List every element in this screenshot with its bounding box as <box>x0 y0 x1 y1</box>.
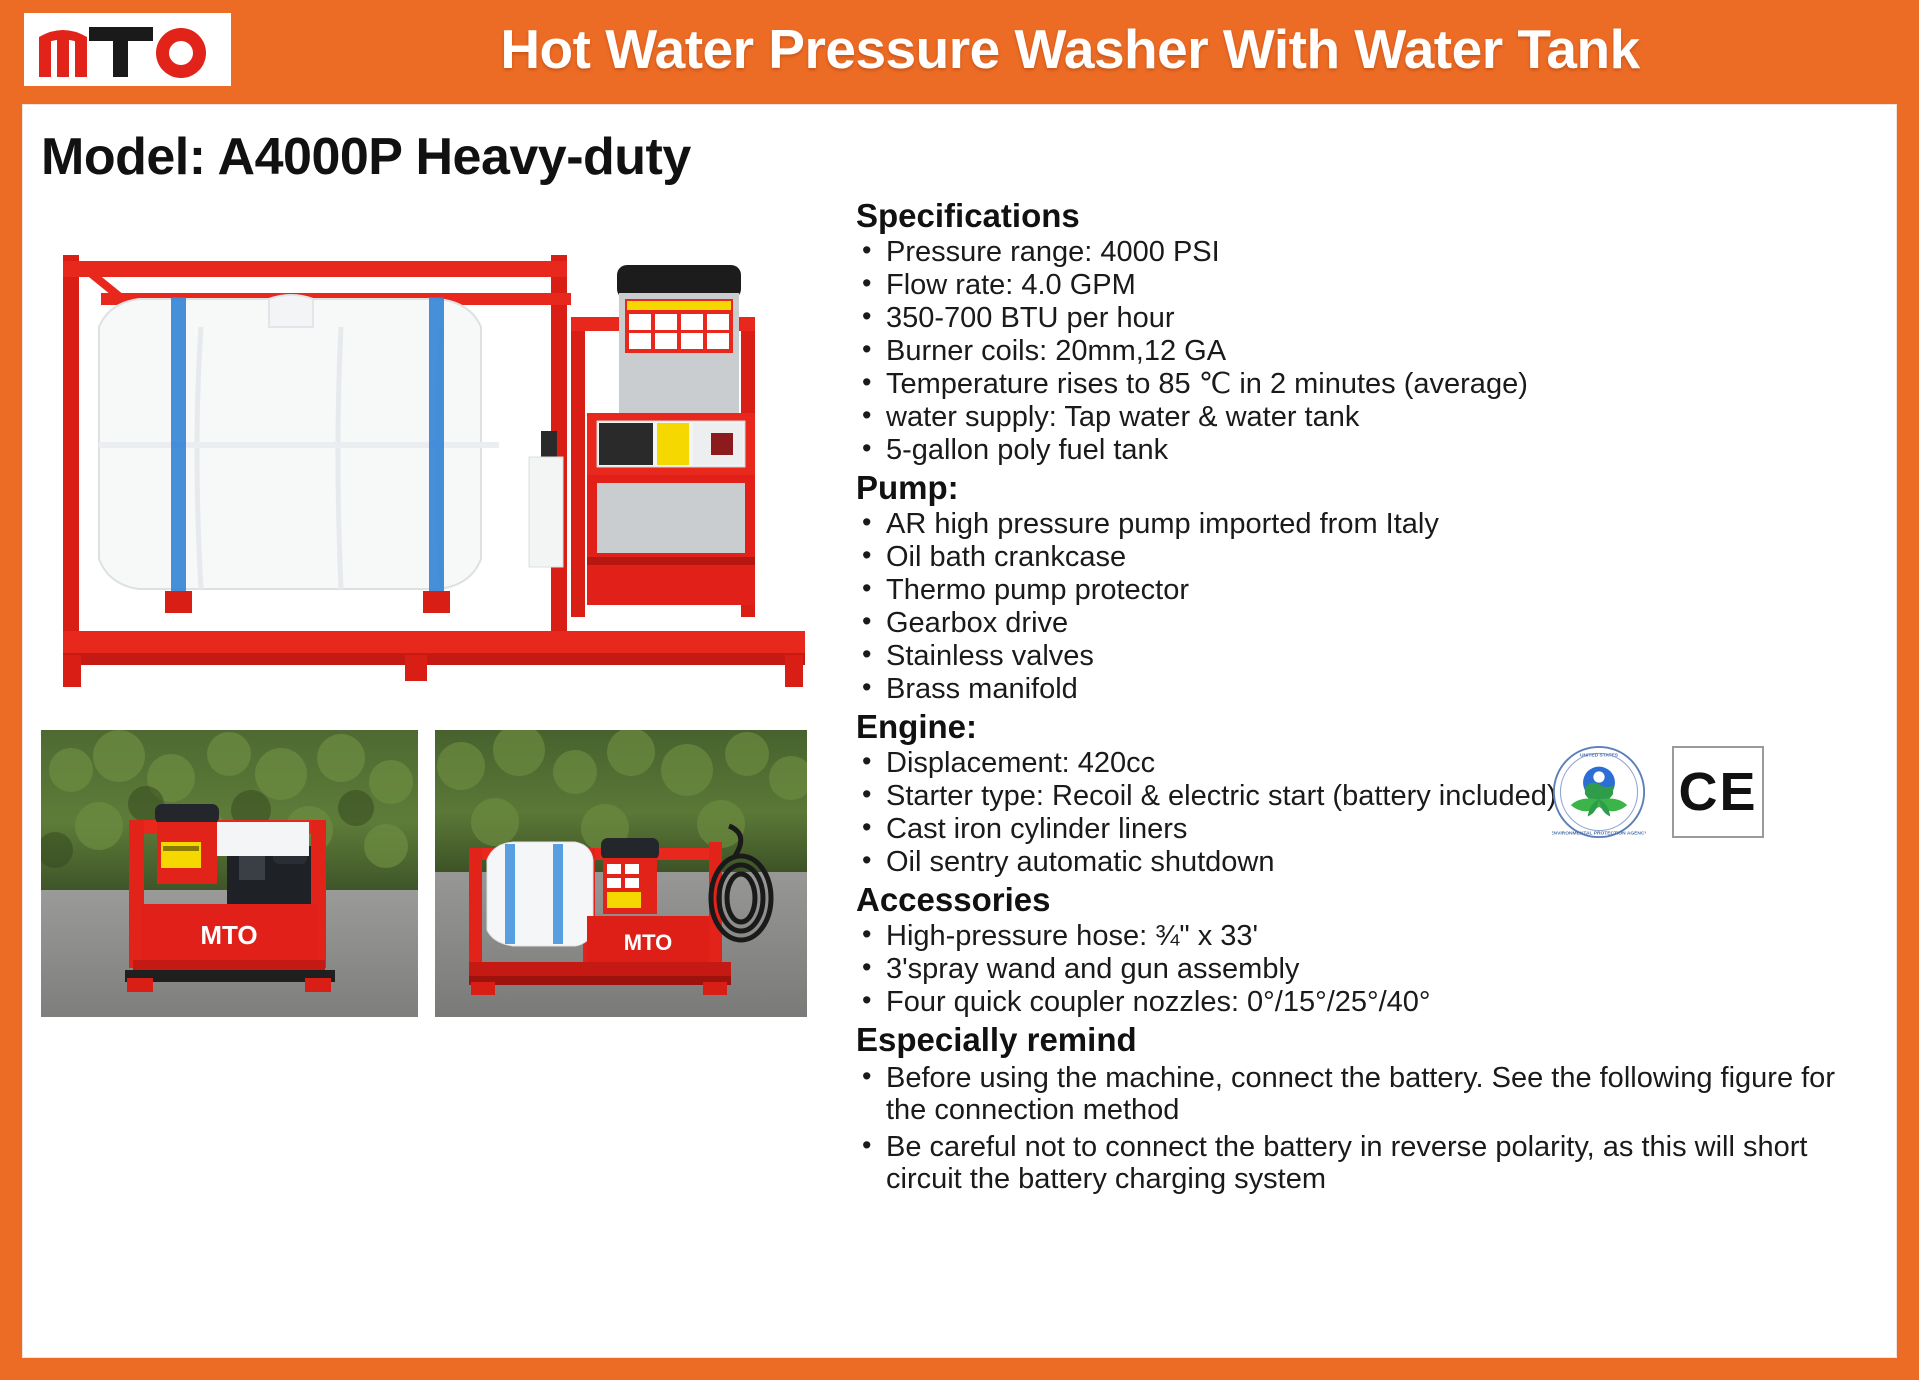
secondary-product-photo-front: MTO <box>41 730 418 1017</box>
section-heading-accessories: Accessories <box>856 881 1878 920</box>
ce-mark-badge: CE <box>1672 746 1764 838</box>
unit-brand-label: MTO <box>200 920 257 950</box>
accessories-list: High-pressure hose: ¾" x 33' 3'spray wan… <box>856 920 1878 1019</box>
specifications-list: Pressure range: 4000 PSI Flow rate: 4.0 … <box>856 236 1878 467</box>
unit-angled-view-illustration: MTO <box>435 730 807 1017</box>
section-heading-specifications: Specifications <box>856 197 1878 236</box>
unit-front-view-illustration: MTO <box>41 730 418 1017</box>
epa-seal-icon: UNITED STATES ENVIRONMENTAL PROTECTION A… <box>1552 745 1646 839</box>
certification-badges: UNITED STATES ENVIRONMENTAL PROTECTION A… <box>1552 745 1764 839</box>
list-item: Burner coils: 20mm,12 GA <box>856 335 1878 368</box>
list-item: Thermo pump protector <box>856 574 1878 607</box>
list-item: Be careful not to connect the battery in… <box>856 1129 1878 1198</box>
list-item: Temperature rises to 85 ℃ in 2 minutes (… <box>856 368 1878 401</box>
pressure-washer-illustration <box>41 235 806 705</box>
section-heading-especially-remind: Especially remind <box>856 1021 1878 1060</box>
list-item: Brass manifold <box>856 673 1878 706</box>
product-spec-sheet: Hot Water Pressure Washer With Water Tan… <box>0 0 1919 1380</box>
list-item: Oil sentry automatic shutdown <box>856 846 1878 879</box>
content-panel: Model: A4000P Heavy-duty <box>22 104 1897 1358</box>
reminder-list: Before using the machine, connect the ba… <box>856 1060 1878 1198</box>
model-heading: Model: A4000P Heavy-duty <box>41 127 691 187</box>
svg-text:ENVIRONMENTAL PROTECTION AGENC: ENVIRONMENTAL PROTECTION AGENCY <box>1552 830 1646 836</box>
list-item: 5-gallon poly fuel tank <box>856 434 1878 467</box>
secondary-product-photo-angled: MTO <box>435 730 807 1017</box>
list-item: 350-700 BTU per hour <box>856 302 1878 335</box>
list-item: AR high pressure pump imported from Ital… <box>856 508 1878 541</box>
list-item: High-pressure hose: ¾" x 33' <box>856 920 1878 953</box>
list-item: Stainless valves <box>856 640 1878 673</box>
list-item: Gearbox drive <box>856 607 1878 640</box>
list-item: Pressure range: 4000 PSI <box>856 236 1878 269</box>
list-item: Four quick coupler nozzles: 0°/15°/25°/4… <box>856 986 1878 1019</box>
list-item: Flow rate: 4.0 GPM <box>856 269 1878 302</box>
list-item: 3'spray wand and gun assembly <box>856 953 1878 986</box>
specifications-column: Specifications Pressure range: 4000 PSI … <box>856 197 1878 1198</box>
pump-list: AR high pressure pump imported from Ital… <box>856 508 1878 706</box>
unit-brand-label: MTO <box>624 930 672 955</box>
mto-logo-icon <box>33 19 223 81</box>
section-heading-engine: Engine: <box>856 708 1878 747</box>
list-item: Before using the machine, connect the ba… <box>856 1060 1878 1129</box>
ce-mark-label: CE <box>1678 761 1757 823</box>
main-product-photo <box>41 235 806 705</box>
header-bar: Hot Water Pressure Washer With Water Tan… <box>0 0 1919 98</box>
section-heading-pump: Pump: <box>856 469 1878 508</box>
list-item: Oil bath crankcase <box>856 541 1878 574</box>
page-title: Hot Water Pressure Washer With Water Tan… <box>250 17 1890 81</box>
brand-logo <box>24 13 231 86</box>
svg-text:UNITED STATES: UNITED STATES <box>1580 752 1619 758</box>
list-item: water supply: Tap water & water tank <box>856 401 1878 434</box>
